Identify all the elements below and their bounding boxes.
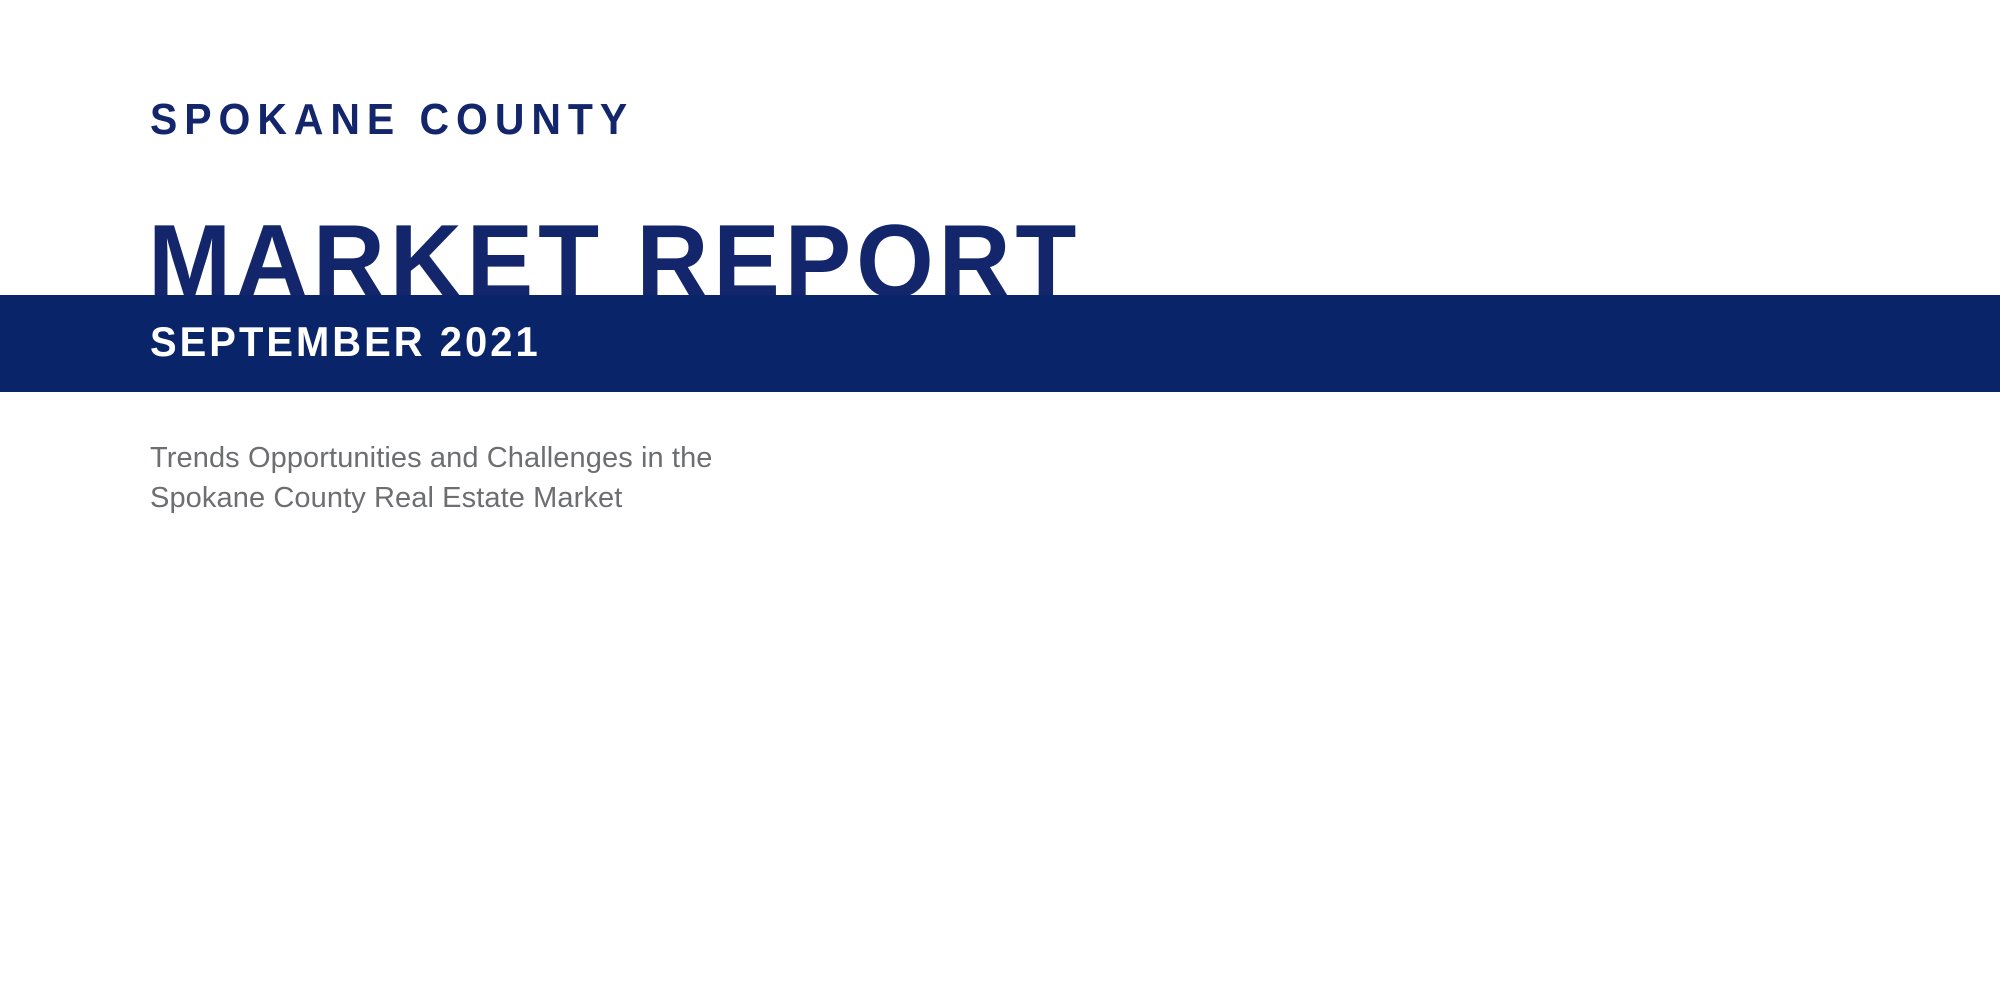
wave-line bbox=[0, 611, 2000, 817]
wave-line bbox=[0, 616, 2000, 829]
wave-line bbox=[0, 686, 2000, 931]
wave-line bbox=[0, 787, 2000, 994]
wave-line bbox=[0, 628, 2000, 854]
wave-line bbox=[0, 652, 2000, 889]
subtitle: Trends Opportunities and Challenges in t… bbox=[150, 438, 713, 518]
wave-line bbox=[0, 703, 2000, 945]
wave-line bbox=[0, 636, 2000, 867]
wave-line bbox=[0, 722, 2000, 957]
wave-line bbox=[0, 744, 2000, 970]
date-label: SEPTEMBER 2021 bbox=[150, 321, 541, 363]
wave-line bbox=[0, 709, 2000, 949]
wave-line bbox=[0, 781, 2000, 991]
wave-line bbox=[0, 597, 2000, 767]
wave-line bbox=[0, 776, 2000, 988]
wave-line bbox=[0, 648, 2000, 884]
wave-line bbox=[0, 643, 2000, 878]
wave-line bbox=[0, 603, 2000, 792]
wave-line bbox=[0, 751, 2000, 973]
eyebrow-label: SPOKANE COUNTY bbox=[150, 98, 634, 142]
wave-line bbox=[0, 600, 2000, 779]
wave-line bbox=[0, 639, 2000, 872]
wave-line bbox=[0, 716, 2000, 954]
wave-line bbox=[0, 613, 2000, 823]
wave-line bbox=[0, 605, 2000, 798]
wave-line bbox=[0, 758, 2000, 977]
wave-line bbox=[0, 764, 2000, 981]
wave-line bbox=[0, 625, 2000, 848]
wave-line bbox=[0, 681, 2000, 926]
wave-line bbox=[0, 663, 2000, 905]
wave-line bbox=[0, 619, 2000, 836]
wave-line bbox=[0, 692, 2000, 936]
wave-line bbox=[0, 770, 2000, 984]
wave-line bbox=[0, 736, 2000, 965]
date-band: SEPTEMBER 2021 bbox=[0, 295, 2000, 392]
wave-line bbox=[0, 598, 2000, 773]
wave-line bbox=[0, 672, 2000, 916]
wave-line bbox=[0, 596, 2000, 761]
wave-line bbox=[0, 607, 2000, 805]
wave-line bbox=[0, 659, 2000, 900]
wave-line bbox=[0, 729, 2000, 961]
wave-line bbox=[0, 697, 2000, 940]
wave-line bbox=[0, 656, 2000, 895]
subtitle-line-1: Trends Opportunities and Challenges in t… bbox=[150, 438, 713, 478]
wave-line bbox=[0, 667, 2000, 911]
wave-line bbox=[0, 632, 2000, 860]
wave-line bbox=[0, 676, 2000, 921]
subtitle-line-2: Spokane County Real Estate Market bbox=[150, 478, 713, 518]
wave-line bbox=[0, 601, 2000, 785]
report-cover-page: SPOKANE COUNTY MARKET REPORT SEPTEMBER 2… bbox=[0, 0, 2000, 1000]
wave-line bbox=[0, 622, 2000, 842]
wave-line bbox=[0, 609, 2000, 811]
